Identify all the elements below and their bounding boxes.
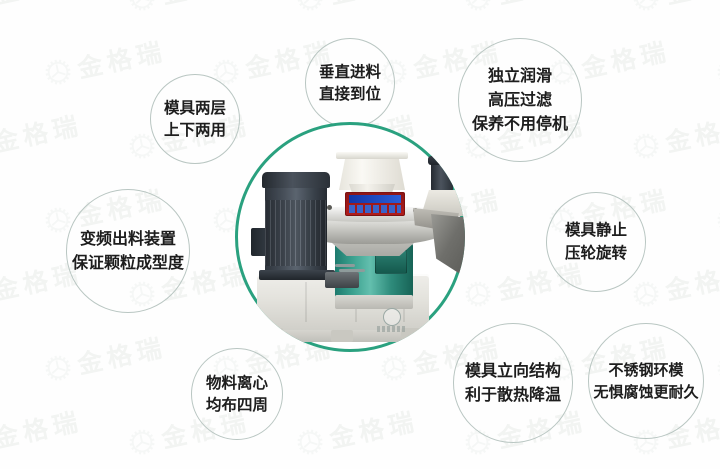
watermark-text: 金格瑞 (578, 32, 674, 86)
watermark-text: 金格瑞 (494, 0, 590, 12)
watermark-item: 金格瑞 (0, 0, 85, 18)
gear-logo-icon (715, 353, 720, 384)
watermark-text: 金格瑞 (0, 106, 85, 160)
feature-bubble-line: 变频出料装置 (80, 227, 176, 251)
motor-cooling-fins-icon (265, 200, 327, 266)
feature-bubble-line: 垂直进料 (319, 61, 381, 83)
watermark-text: 金格瑞 (326, 402, 422, 456)
feature-bubble-line: 均布四周 (206, 394, 268, 416)
control-panel-icon (345, 192, 405, 216)
watermark-text: 金格瑞 (74, 328, 170, 382)
gear-logo-icon (127, 0, 158, 14)
feature-bubble-line: 利于散热降温 (465, 383, 561, 407)
watermark-text: 金格瑞 (0, 180, 1, 234)
rim-bolt-icon (327, 205, 332, 210)
motor-cap-icon (262, 172, 330, 188)
feature-bubble-line: 保证颗粒成型度 (72, 251, 184, 275)
watermark-text: 金格瑞 (0, 0, 85, 12)
hydraulic-pipe-icon (335, 264, 355, 267)
feature-diagram-canvas: 金格瑞金格瑞金格瑞金格瑞金格瑞金格瑞金格瑞金格瑞金格瑞金格瑞金格瑞金格瑞金格瑞金… (0, 0, 720, 469)
watermark-text: 金格瑞 (662, 0, 720, 12)
gear-logo-icon (379, 353, 410, 384)
feature-bubble-independent-lubrication[interactable]: 独立润滑高压过滤保养不用停机 (458, 38, 582, 162)
brand-badge-icon (383, 308, 401, 326)
watermark-item: 金格瑞 (630, 254, 720, 315)
pellet-mill-machine-photo (235, 122, 465, 352)
gear-logo-icon (631, 279, 662, 310)
feature-bubble-line: 物料离心 (206, 372, 268, 394)
side-gear-motor-icon (431, 162, 453, 192)
feature-bubble-line: 模具两层 (164, 97, 226, 119)
gear-logo-icon (715, 57, 720, 88)
brand-nameplate-icon (377, 326, 407, 332)
watermark-item: 金格瑞 (714, 32, 720, 93)
gear-logo-icon (715, 205, 720, 236)
control-panel-buttons-icon (349, 205, 401, 213)
gear-logo-icon (43, 353, 74, 384)
hydraulic-block-icon (325, 272, 359, 288)
motor-flange-icon (259, 270, 335, 280)
feature-bubble-vertical-die-structure[interactable]: 模具立向结构利于散热降温 (453, 323, 573, 443)
watermark-item: 金格瑞 (294, 0, 422, 18)
gear-logo-icon (295, 0, 326, 14)
watermark-item: 金格瑞 (0, 106, 85, 167)
feature-bubble-die-static-roller-rotates[interactable]: 模具静止压轮旋转 (546, 192, 646, 292)
feature-bubble-material-centrifugal[interactable]: 物料离心均布四周 (191, 348, 283, 440)
watermark-item: 金格瑞 (42, 328, 170, 389)
watermark-text: 金格瑞 (0, 402, 85, 456)
gear-logo-icon (463, 0, 494, 14)
feature-bubble-line: 上下两用 (164, 119, 226, 141)
drum-base-plate-icon (335, 295, 413, 309)
watermark-item: 金格瑞 (630, 106, 720, 167)
watermark-item: 金格瑞 (0, 32, 1, 93)
feature-bubble-line: 压轮旋转 (565, 242, 627, 265)
gear-logo-icon (127, 427, 158, 458)
feature-bubble-line: 模具静止 (565, 219, 627, 242)
watermark-text: 金格瑞 (326, 0, 422, 12)
watermark-item: 金格瑞 (294, 402, 422, 463)
watermark-text: 金格瑞 (662, 254, 720, 308)
watermark-text: 金格瑞 (0, 32, 1, 86)
watermark-item: 金格瑞 (0, 328, 1, 389)
feature-bubble-line: 独立润滑 (488, 64, 552, 88)
watermark-item: 金格瑞 (714, 180, 720, 241)
watermark-item: 金格瑞 (714, 328, 720, 389)
control-panel-display-icon (349, 195, 401, 203)
watermark-text: 金格瑞 (662, 106, 720, 160)
base-rib-icon (305, 282, 307, 322)
gear-logo-icon (631, 131, 662, 162)
watermark-item: 金格瑞 (462, 0, 590, 18)
feature-bubble-vertical-feed[interactable]: 垂直进料直接到位 (305, 38, 395, 128)
watermark-text: 金格瑞 (158, 0, 254, 12)
watermark-item: 金格瑞 (42, 32, 170, 93)
hopper-lid-icon (336, 152, 408, 159)
product-photo-ring (235, 122, 465, 352)
watermark-item: 金格瑞 (126, 0, 254, 18)
feature-bubble-line: 无惧腐蚀更耐久 (593, 381, 698, 403)
feature-bubble-line: 不锈钢环模 (608, 359, 683, 381)
base-foot-icon (331, 330, 353, 342)
gear-logo-icon (295, 427, 326, 458)
watermark-item: 金格瑞 (630, 0, 720, 18)
feature-bubble-variable-frequency-discharge[interactable]: 变频出料装置保证颗粒成型度 (66, 189, 190, 313)
watermark-text: 金格瑞 (74, 32, 170, 86)
discharge-chute-icon (431, 214, 465, 276)
base-foot-icon (261, 328, 283, 340)
feature-bubble-line: 保养不用停机 (472, 112, 568, 136)
side-gear-cap-icon (428, 156, 456, 165)
watermark-item: 金格瑞 (0, 402, 85, 463)
feature-bubble-line: 直接到位 (319, 83, 381, 105)
watermark-text: 金格瑞 (0, 328, 1, 382)
feature-bubble-line: 高压过滤 (488, 88, 552, 112)
hydraulic-pipe-icon (339, 269, 365, 272)
gear-logo-icon (43, 57, 74, 88)
gear-logo-icon (631, 0, 662, 14)
feature-bubble-stainless-ring-die[interactable]: 不锈钢环模无惧腐蚀更耐久 (588, 323, 704, 439)
gear-logo-icon (463, 279, 494, 310)
watermark-item: 金格瑞 (0, 180, 1, 241)
feature-bubble-die-two-layer[interactable]: 模具两层上下两用 (150, 74, 240, 164)
side-gear-box-icon (451, 166, 461, 179)
feature-bubble-line: 模具立向结构 (465, 359, 561, 383)
